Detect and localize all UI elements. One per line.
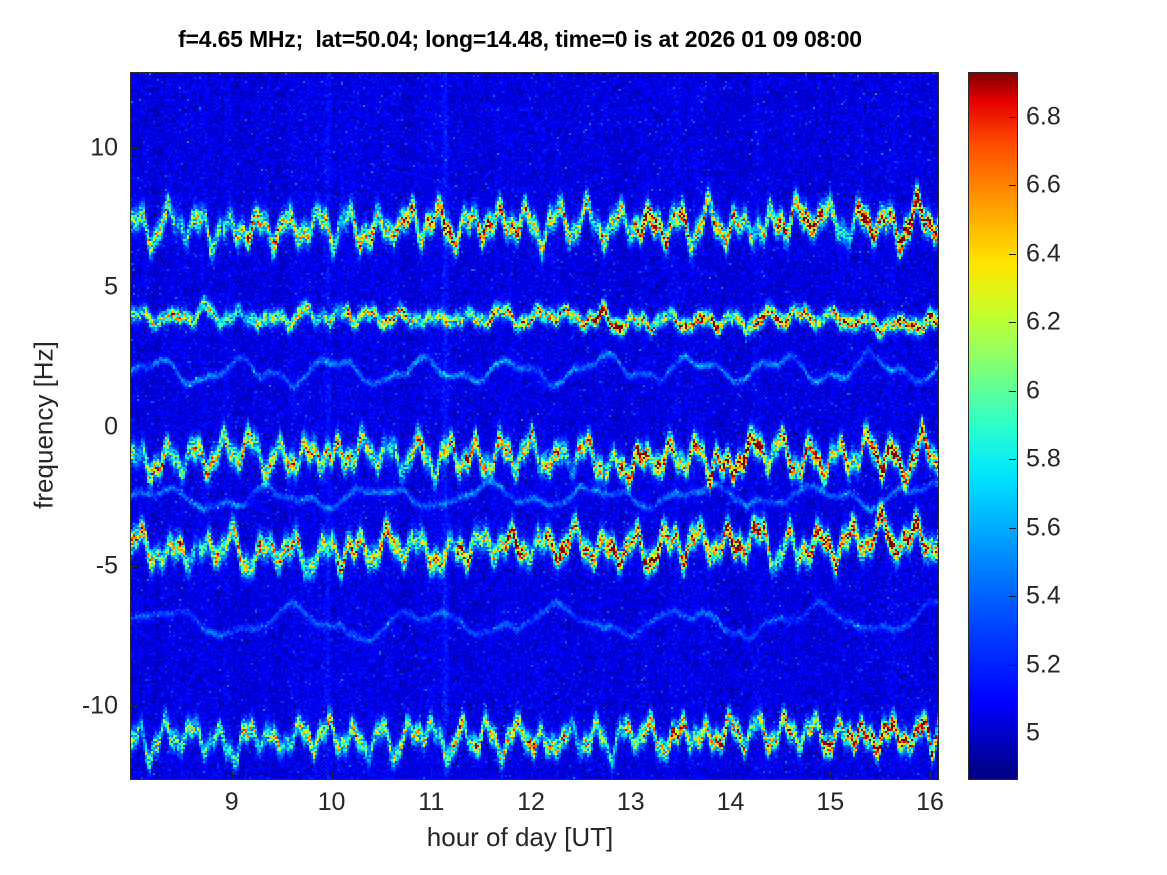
y-tick-label: 5 <box>72 273 118 302</box>
colorbar-tick-label: 6.2 <box>1026 308 1061 337</box>
y-tick-label: 10 <box>72 134 118 163</box>
x-tick-label: 12 <box>496 788 566 817</box>
x-tick-label: 15 <box>795 788 865 817</box>
colorbar-tick-mark <box>1009 459 1016 460</box>
colorbar-tick-mark <box>1009 185 1016 186</box>
spectrogram-image <box>131 73 938 779</box>
colorbar-tick-mark <box>1009 733 1016 734</box>
x-tick-label: 10 <box>297 788 367 817</box>
y-tick-mark <box>130 287 137 288</box>
colorbar <box>968 72 1018 780</box>
y-tick-mark <box>130 148 137 149</box>
x-tick-mark <box>332 771 333 778</box>
colorbar-tick-label: 6 <box>1026 376 1040 405</box>
spectrogram-axes <box>130 72 939 780</box>
x-tick-label: 16 <box>895 788 965 817</box>
colorbar-tick-mark <box>1009 117 1016 118</box>
x-tick-label: 14 <box>696 788 766 817</box>
y-tick-mark <box>130 706 137 707</box>
x-tick-mark <box>531 771 532 778</box>
colorbar-tick-label: 6.8 <box>1026 102 1061 131</box>
colorbar-tick-label: 5.2 <box>1026 650 1061 679</box>
colorbar-tick-mark <box>1009 596 1016 597</box>
x-tick-label: 11 <box>396 788 466 817</box>
x-tick-mark <box>830 771 831 778</box>
colorbar-tick-mark <box>1009 322 1016 323</box>
colorbar-tick-label: 5.4 <box>1026 582 1061 611</box>
y-tick-mark <box>130 427 137 428</box>
y-tick-label: -5 <box>72 552 118 581</box>
colorbar-tick-label: 5.6 <box>1026 513 1061 542</box>
x-tick-mark <box>232 771 233 778</box>
y-tick-mark <box>130 566 137 567</box>
colorbar-tick-label: 5 <box>1026 719 1040 748</box>
colorbar-tick-mark <box>1009 665 1016 666</box>
y-axis-label-wrap: frequency [Hz] <box>62 72 63 778</box>
x-tick-mark <box>731 771 732 778</box>
x-tick-label: 9 <box>197 788 267 817</box>
figure-title: f=4.65 MHz; lat=50.04; long=14.48, time=… <box>0 26 1040 53</box>
colorbar-tick-mark <box>1009 254 1016 255</box>
doppler-spectrogram-figure: f=4.65 MHz; lat=50.04; long=14.48, time=… <box>0 0 1167 875</box>
colorbar-tick-mark <box>1009 528 1016 529</box>
colorbar-tick-label: 6.4 <box>1026 239 1061 268</box>
colorbar-tick-mark <box>1009 391 1016 392</box>
x-tick-label: 13 <box>596 788 666 817</box>
colorbar-tick-label: 5.8 <box>1026 445 1061 474</box>
y-axis-label: frequency [Hz] <box>29 341 60 509</box>
x-tick-mark <box>431 771 432 778</box>
x-tick-mark <box>930 771 931 778</box>
colorbar-tick-label: 6.6 <box>1026 171 1061 200</box>
y-tick-label: -10 <box>72 691 118 720</box>
y-tick-label: 0 <box>72 412 118 441</box>
x-tick-mark <box>631 771 632 778</box>
x-axis-label: hour of day [UT] <box>0 822 1040 853</box>
